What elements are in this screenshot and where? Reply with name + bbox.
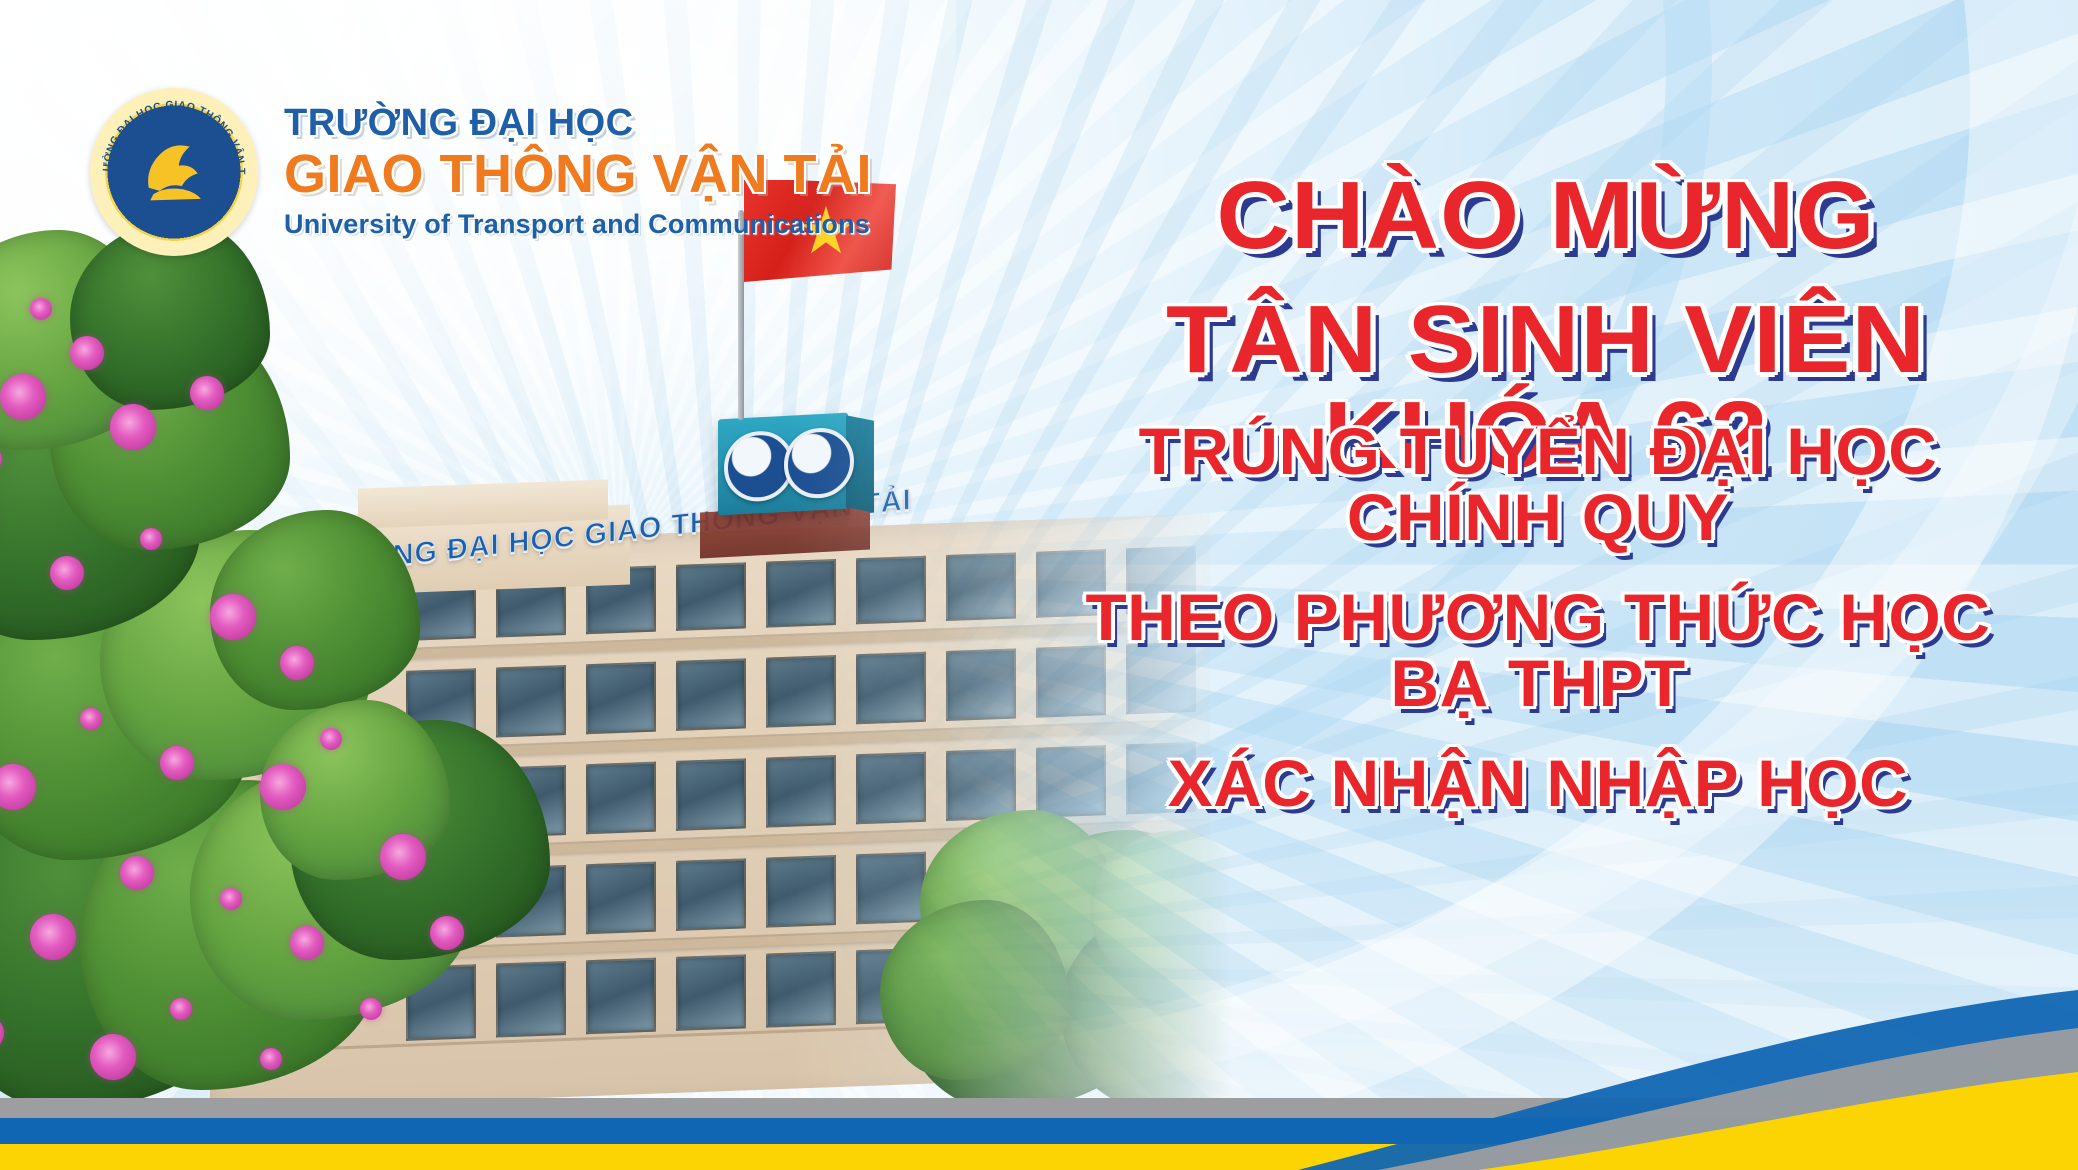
institution-identity-block: TRƯỜNG ĐẠI HỌC GIAO THÔNG VẬN TẢI UNIVER… <box>90 88 872 256</box>
welcome-banner: TRƯỜNG ĐẠI HỌC GIAO THÔNG VẬN TẢI <box>0 0 2078 1170</box>
institution-name-text: TRƯỜNG ĐẠI HỌC GIAO THÔNG VẬN TẢI Univer… <box>284 104 872 240</box>
cube-logo-disc-right <box>784 426 854 500</box>
sub-headline: TRÚNG TUYỂN ĐẠI HỌC CHÍNH QUY THEO PHƯƠN… <box>1058 418 2018 816</box>
institution-line-1: TRƯỜNG ĐẠI HỌC <box>284 104 872 143</box>
rooftop-logo-cube <box>718 413 848 516</box>
subheadline-line-3: XÁC NHẬN NHẬP HỌC <box>1048 750 2027 816</box>
headline-line-1: CHÀO MỪNG <box>1058 168 2033 264</box>
footer-swoosh-curves <box>1178 980 2078 1170</box>
university-seal-logo: TRƯỜNG ĐẠI HỌC GIAO THÔNG VẬN TẢI UNIVER… <box>90 88 258 256</box>
subheadline-line-1: TRÚNG TUYỂN ĐẠI HỌC CHÍNH QUY <box>1048 418 2027 550</box>
seal-swan-icon <box>134 131 213 210</box>
subheadline-line-2: THEO PHƯƠNG THỨC HỌC BẠ THPT <box>1048 584 2027 716</box>
flowering-tree-left <box>0 220 600 1110</box>
institution-line-english: University of Transport and Communicatio… <box>284 209 872 240</box>
seal-inner-disc <box>127 125 221 219</box>
institution-line-2: GIAO THÔNG VẬN TẢI <box>284 146 872 202</box>
